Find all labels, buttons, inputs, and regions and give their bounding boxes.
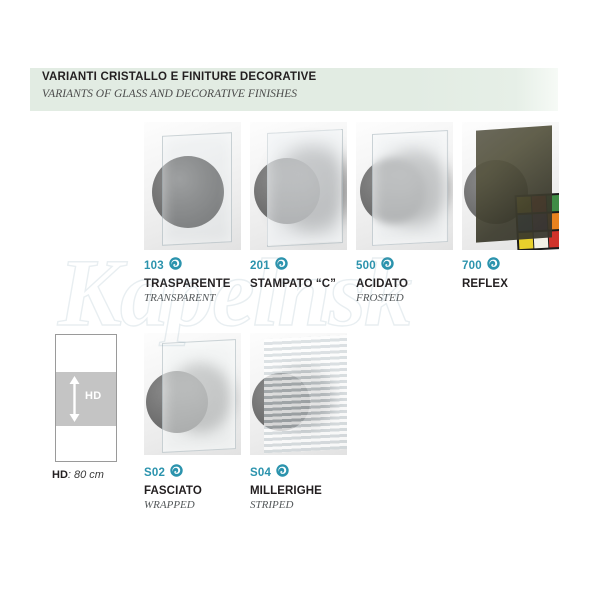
hd-caption: HD: 80 cm — [52, 469, 104, 481]
code-row: 500 — [356, 259, 408, 273]
page-subtitle: VARIANTS OF GLASS AND DECORATIVE FINISHE… — [42, 88, 297, 100]
sample-image-transparent[interactable] — [144, 122, 241, 250]
finish-name: MILLERIGHE — [250, 485, 322, 497]
caption-acidato: 500 ACIDATO FROSTED — [356, 259, 408, 304]
glass-pane-striped — [264, 335, 347, 453]
sample-image-reflex[interactable] — [462, 122, 559, 250]
finish-name-en: WRAPPED — [144, 499, 202, 511]
code-label: 201 — [250, 260, 270, 272]
page-title: VARIANTI CRISTALLO E FINITURE DECORATIVE — [42, 71, 316, 83]
code-row: S04 — [250, 466, 322, 480]
hd-caption-value: : 80 cm — [68, 469, 104, 481]
code-label: S04 — [250, 467, 271, 479]
droplet-icon — [487, 257, 500, 275]
sample-image-stampato-c[interactable] — [250, 122, 347, 250]
hd-arrow-label: HD — [85, 390, 102, 402]
finish-name-en: STRIPED — [250, 499, 322, 511]
droplet-icon — [276, 464, 289, 482]
sample-image-millerighe[interactable] — [250, 333, 347, 455]
droplet-icon — [169, 257, 182, 275]
code-label: 700 — [462, 260, 482, 272]
code-row: 700 — [462, 259, 508, 273]
glass-pane — [162, 132, 232, 246]
glass-pane-frosted — [372, 130, 448, 246]
finish-name: TRASPARENTE — [144, 278, 231, 290]
code-label: S02 — [144, 467, 165, 479]
finish-name: REFLEX — [462, 278, 508, 290]
diffusion-overlay — [267, 129, 341, 245]
droplet-icon — [381, 257, 394, 275]
finish-name: STAMPATO “C” — [250, 278, 336, 290]
sample-image-fasciato[interactable] — [144, 333, 241, 455]
glass-pane-wrapped — [162, 339, 236, 453]
code-row: S02 — [144, 466, 202, 480]
code-row: 103 — [144, 259, 231, 273]
sample-image-acidato[interactable] — [356, 122, 453, 250]
caption-stampato-c: 201 STAMPATO “C” — [250, 259, 336, 292]
caption-transparent: 103 TRASPARENTE TRANSPARENT — [144, 259, 231, 304]
droplet-icon — [170, 464, 183, 482]
code-row: 201 — [250, 259, 336, 273]
hd-diagram: HD — [55, 334, 117, 462]
caption-fasciato: S02 FASCIATO WRAPPED — [144, 466, 202, 511]
code-label: 103 — [144, 260, 164, 272]
finish-name: FASCIATO — [144, 485, 202, 497]
hd-double-arrow-icon — [69, 376, 80, 422]
droplet-icon — [275, 257, 288, 275]
tinted-glass-pane — [476, 125, 552, 242]
caption-reflex: 700 REFLEX — [462, 259, 508, 292]
hd-caption-key: HD — [52, 469, 68, 481]
finish-name-en: FROSTED — [356, 292, 408, 304]
caption-millerighe: S04 MILLERIGHE STRIPED — [250, 466, 322, 511]
finish-name: ACIDATO — [356, 278, 408, 290]
finish-name-en: TRANSPARENT — [144, 292, 231, 304]
code-label: 500 — [356, 260, 376, 272]
